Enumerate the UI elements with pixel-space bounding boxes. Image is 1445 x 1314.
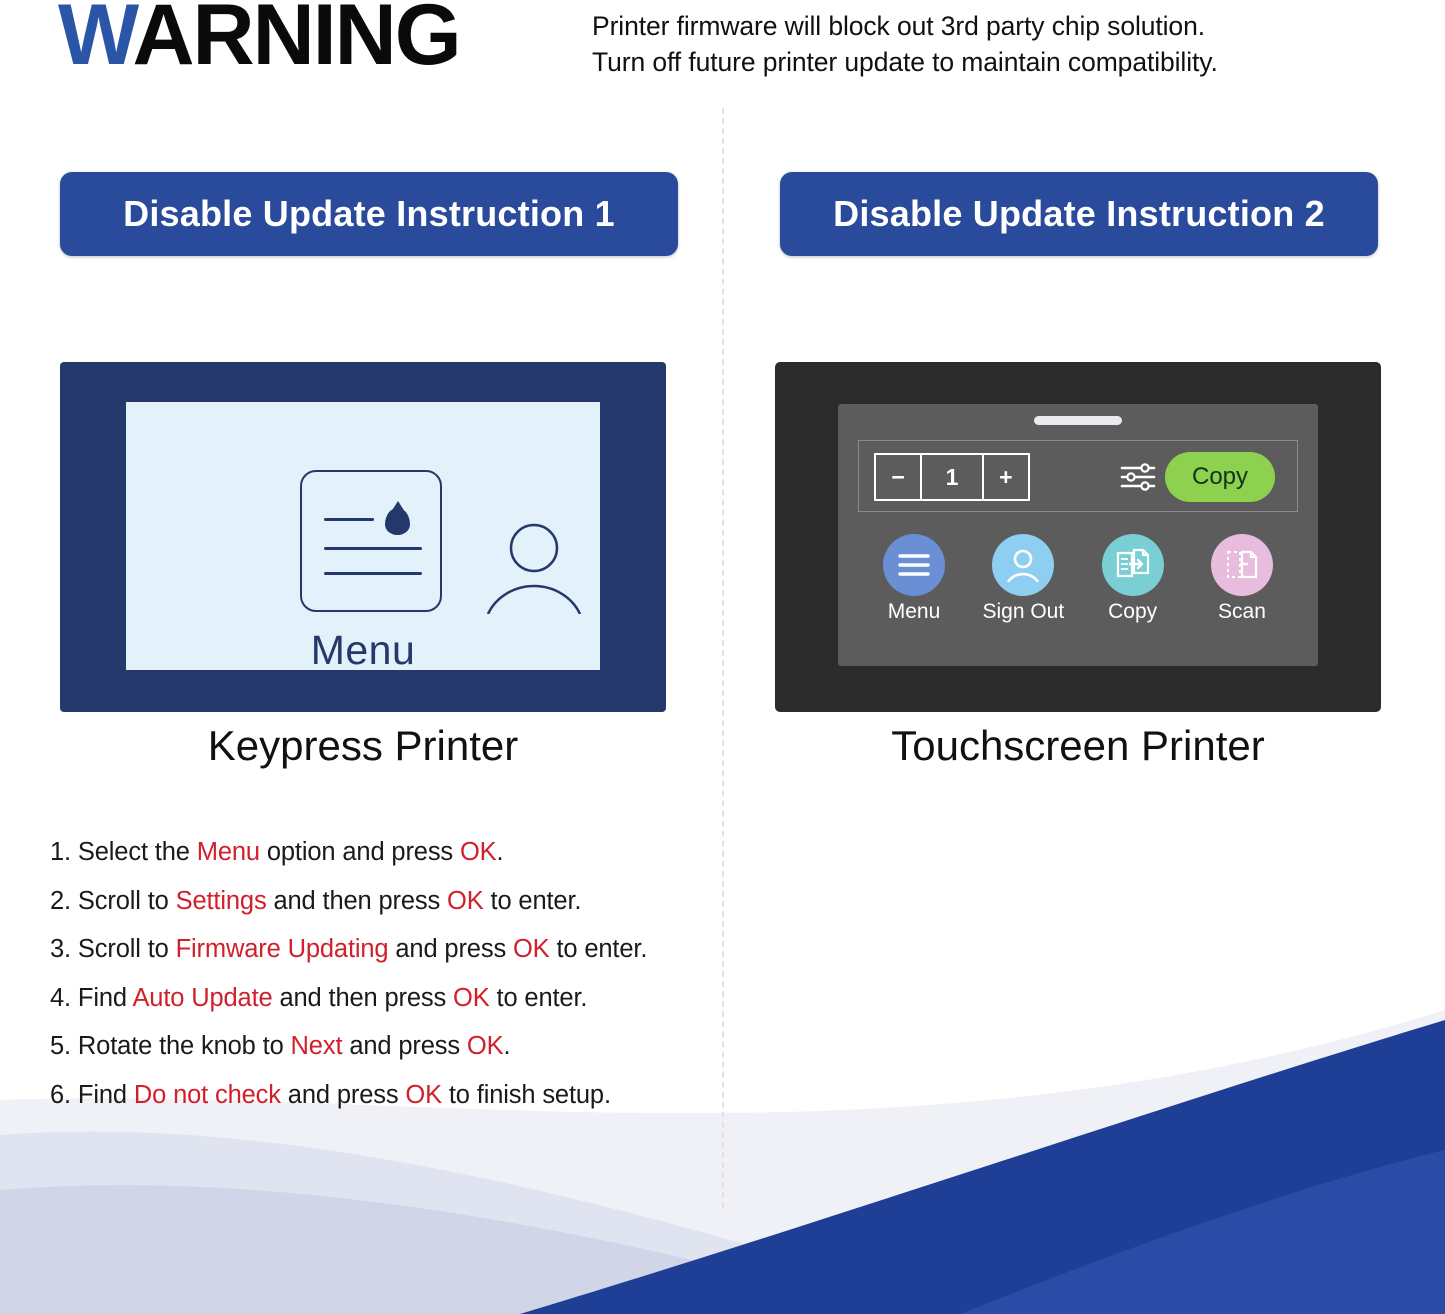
keypress-steps-list: 1. Select the Menu option and press OK. … <box>50 828 710 1120</box>
hamburger-menu-icon[interactable] <box>883 534 945 596</box>
step-text: Find <box>71 1081 134 1109</box>
step-number: 2. <box>50 887 71 915</box>
document-line-2 <box>324 547 422 550</box>
stepper-minus-button[interactable]: − <box>876 455 920 499</box>
touchscreen-toolbar: − 1 + Copy <box>858 440 1298 512</box>
step-item: 4. Find Auto Update and then press OK to… <box>50 974 710 1023</box>
step-text: and press <box>388 935 513 963</box>
step-text: . <box>503 1032 510 1060</box>
step-keyword: Firmware Updating <box>176 935 389 963</box>
copy-document-icon[interactable] <box>1102 534 1164 596</box>
header-subtitle: Printer firmware will block out 3rd part… <box>592 8 1392 80</box>
wave-blue-accent <box>960 1150 1445 1314</box>
user-silhouette-icon <box>482 522 586 614</box>
step-text: to enter. <box>550 935 648 963</box>
step-keyword: OK <box>513 935 550 963</box>
document-line-3 <box>324 572 422 575</box>
header-subtitle-line-2: Turn off future printer update to mainta… <box>592 44 1392 80</box>
keypress-printer-device: Menu <box>60 362 666 712</box>
step-keyword: Do not check <box>134 1081 281 1109</box>
touchscreen-printer-caption: Touchscreen Printer <box>775 722 1381 770</box>
document-ink-icon <box>300 470 442 612</box>
step-keyword: OK <box>447 887 484 915</box>
step-keyword: OK <box>405 1081 442 1109</box>
keypress-screen-menu-label: Menu <box>126 627 600 674</box>
document-line-1 <box>324 518 374 521</box>
app-button-sign-out[interactable]: Sign Out <box>979 534 1067 624</box>
step-text: Find <box>71 984 132 1012</box>
keypress-printer-screen: Menu <box>126 402 600 670</box>
step-text: Select the <box>71 838 197 866</box>
step-keyword: Next <box>291 1032 343 1060</box>
step-item: 3. Scroll to Firmware Updating and press… <box>50 925 710 974</box>
banner-instruction-1: Disable Update Instruction 1 <box>60 172 678 256</box>
step-keyword: OK <box>453 984 490 1012</box>
touchscreen-printer-device: − 1 + Copy <box>775 362 1381 712</box>
banner-instruction-2: Disable Update Instruction 2 <box>780 172 1378 256</box>
step-item: 1. Select the Menu option and press OK. <box>50 828 710 877</box>
step-keyword: OK <box>467 1032 504 1060</box>
step-number: 6. <box>50 1081 71 1109</box>
header: WARNING Printer firmware will block out … <box>0 0 1445 100</box>
step-text: Scroll to <box>71 887 176 915</box>
header-subtitle-line-1: Printer firmware will block out 3rd part… <box>592 8 1392 44</box>
app-label-scan: Scan <box>1198 600 1286 624</box>
wave-light-back <box>0 1132 980 1314</box>
step-number: 1. <box>50 838 71 866</box>
step-text: Rotate the knob to <box>71 1032 291 1060</box>
ink-drop-icon <box>385 508 410 535</box>
step-item: 5. Rotate the knob to Next and press OK. <box>50 1022 710 1071</box>
step-keyword: Auto Update <box>132 984 272 1012</box>
step-text: Scroll to <box>71 935 176 963</box>
stepper-value: 1 <box>920 455 984 499</box>
copies-stepper[interactable]: − 1 + <box>874 453 1030 501</box>
copy-action-button[interactable]: Copy <box>1165 452 1275 502</box>
wave-light-mid <box>0 1185 900 1314</box>
app-button-scan[interactable]: Scan <box>1198 534 1286 624</box>
warning-title-rest: ARNING <box>132 0 459 83</box>
warning-instruction-poster: WARNING Printer firmware will block out … <box>0 0 1445 1314</box>
step-keyword: Settings <box>176 887 267 915</box>
step-text: to enter. <box>490 984 588 1012</box>
step-item: 6. Find Do not check and press OK to fin… <box>50 1071 710 1120</box>
column-divider <box>722 108 724 1208</box>
step-keyword: OK <box>460 838 497 866</box>
warning-title-w: W <box>58 0 132 83</box>
step-text: and press <box>342 1032 467 1060</box>
step-item: 2. Scroll to Settings and then press OK … <box>50 877 710 926</box>
step-number: 5. <box>50 1032 71 1060</box>
touchscreen-app-row: Menu Sign Out <box>858 534 1298 624</box>
speaker-slot <box>1034 416 1122 425</box>
banner-instruction-2-label: Disable Update Instruction 2 <box>833 193 1325 235</box>
app-button-copy[interactable]: Copy <box>1089 534 1177 624</box>
step-text: and press <box>281 1081 406 1109</box>
step-number: 4. <box>50 984 71 1012</box>
step-text: and then press <box>267 887 447 915</box>
step-text: to finish setup. <box>442 1081 611 1109</box>
keypress-printer-caption: Keypress Printer <box>60 722 666 770</box>
stepper-plus-button[interactable]: + <box>984 455 1028 499</box>
step-text: to enter. <box>484 887 582 915</box>
user-icon[interactable] <box>992 534 1054 596</box>
step-text: and then press <box>273 984 453 1012</box>
warning-title: WARNING <box>58 0 460 78</box>
step-keyword: Menu <box>197 838 260 866</box>
banner-instruction-1-label: Disable Update Instruction 1 <box>123 193 615 235</box>
touchscreen-printer-screen: − 1 + Copy <box>838 404 1318 666</box>
settings-sliders-icon[interactable] <box>1120 462 1156 492</box>
scan-document-icon[interactable] <box>1211 534 1273 596</box>
step-text: option and press <box>260 838 460 866</box>
app-label-copy: Copy <box>1089 600 1177 624</box>
step-number: 3. <box>50 935 71 963</box>
step-text: . <box>497 838 504 866</box>
app-label-menu: Menu <box>870 600 958 624</box>
app-label-sign-out: Sign Out <box>979 600 1067 624</box>
app-button-menu[interactable]: Menu <box>870 534 958 624</box>
